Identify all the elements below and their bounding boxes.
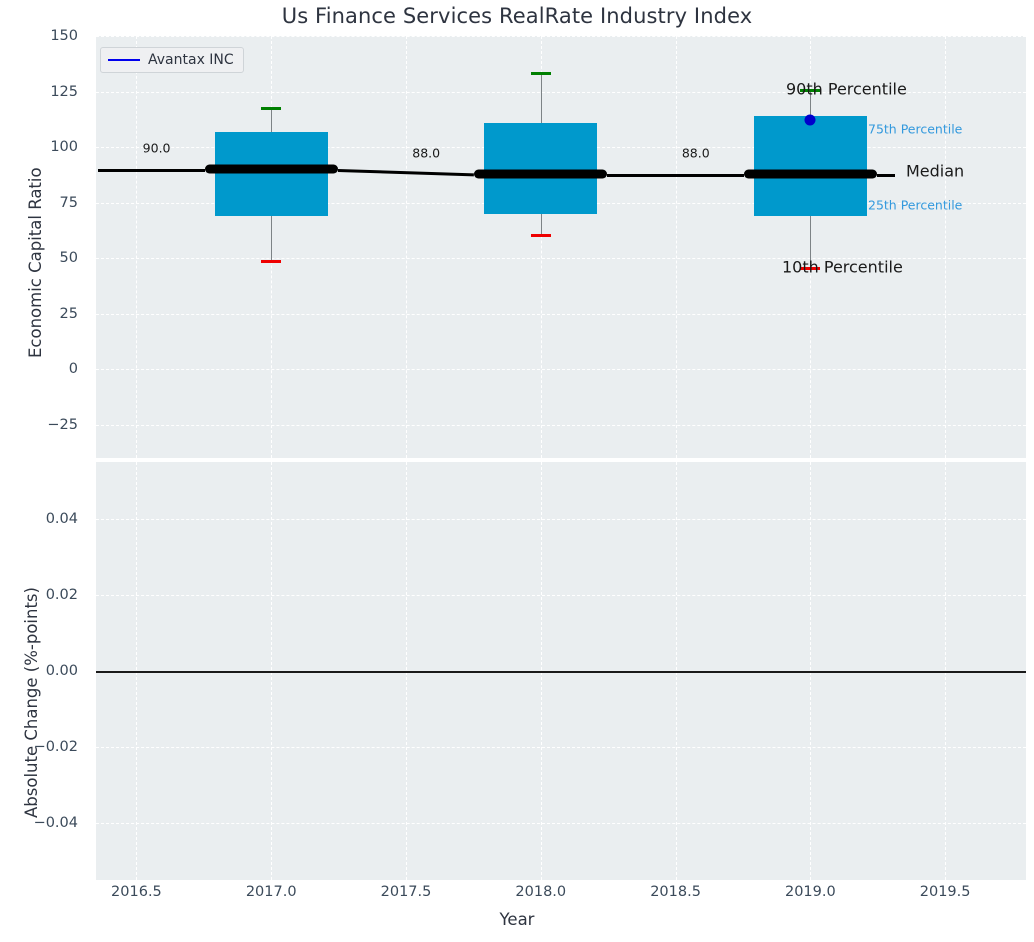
annotation-10th-percentile: 10th Percentile [782,257,903,276]
plot-area-absolute-change [96,462,1026,880]
x-tick-label: 2018.5 [650,884,701,900]
gridline-horizontal [96,425,1026,426]
x-axis-label: Year [0,910,1034,929]
y-tick-label-top: 150 [0,28,86,44]
gridline-horizontal [96,823,1026,824]
median-line-right-stub [877,174,895,177]
gridline-horizontal [96,747,1026,748]
gridline-horizontal [96,595,1026,596]
y-tick-label-bottom: 0.00 [0,663,86,679]
gridline-vertical [945,36,946,458]
gridline-vertical [136,36,137,458]
x-tick-label: 2019.0 [785,884,836,900]
median-connector-line [607,174,743,177]
gridline-horizontal [96,314,1026,315]
box-interquartile-range [484,123,597,214]
x-tick-label: 2019.5 [920,884,971,900]
median-value-label: 88.0 [412,145,440,160]
x-tick-label: 2018.0 [515,884,566,900]
x-tick-label: 2017.0 [246,884,297,900]
annotation-25th-percentile: 25th Percentile [868,197,962,212]
legend-label-avantax: Avantax INC [148,52,234,68]
gridline-horizontal [96,369,1026,370]
y-tick-label-top: 100 [0,139,86,155]
annotation-90th-percentile: 90th Percentile [786,80,907,99]
y-tick-label-top: 50 [0,250,86,266]
gridline-horizontal [96,36,1026,37]
legend[interactable]: Avantax INC [100,47,244,73]
whisker-cap-p90 [261,107,281,110]
y-tick-label-bottom: 0.02 [0,587,86,603]
x-tick-label: 2016.5 [111,884,162,900]
y-axis-label-bottom: Absolute Change (%-points) [22,587,41,818]
gridline-horizontal [96,519,1026,520]
median-bar [474,169,607,178]
median-line-left-stub [98,169,205,172]
y-tick-label-top: 0 [0,361,86,377]
y-tick-label-top: −25 [0,417,86,433]
median-bar [205,165,338,174]
legend-line-icon [108,59,140,61]
box-interquartile-range [754,116,867,216]
gridline-vertical [676,36,677,458]
chart-title: Us Finance Services RealRate Industry In… [0,4,1034,28]
chart-page: Us Finance Services RealRate Industry In… [0,0,1034,942]
company-data-point-avantax[interactable] [805,115,816,126]
zero-reference-line [96,671,1026,673]
annotation-median: Median [906,162,964,181]
y-tick-label-bottom: −0.02 [0,739,86,755]
whisker-cap-p10 [531,234,551,237]
x-tick-label: 2017.5 [381,884,432,900]
median-value-label: 90.0 [143,141,171,156]
whisker-cap-p10 [261,260,281,263]
y-tick-label-top: 125 [0,84,86,100]
y-tick-label-bottom: 0.04 [0,511,86,527]
whisker-cap-p90 [531,72,551,75]
annotation-75th-percentile: 75th Percentile [868,122,962,137]
median-bar [744,169,877,178]
y-tick-label-top: 75 [0,195,86,211]
gridline-vertical [406,36,407,458]
y-tick-label-top: 25 [0,306,86,322]
y-tick-label-bottom: −0.04 [0,815,86,831]
plot-area-economic-capital-ratio [96,36,1026,458]
median-value-label: 88.0 [682,145,710,160]
